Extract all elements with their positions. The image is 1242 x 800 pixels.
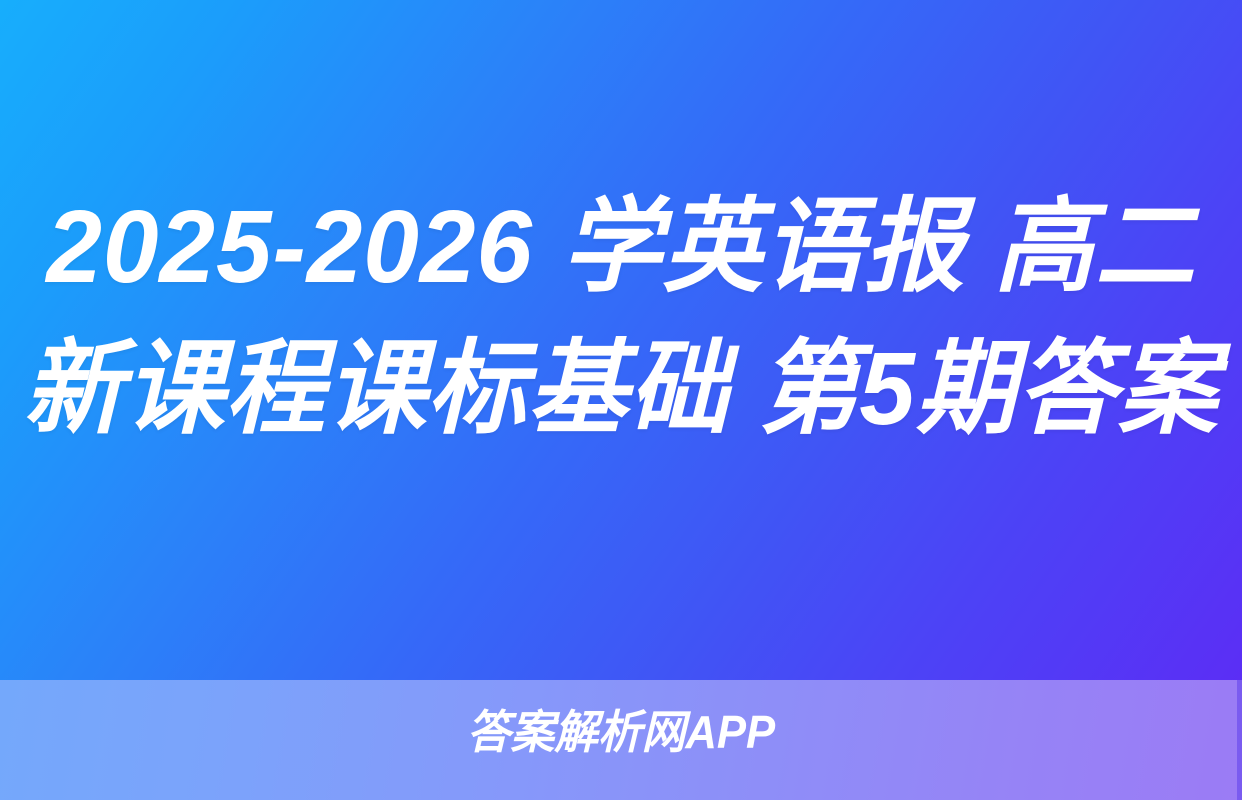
answer-poster-image: 2025-2026 学英语报 高二 新课程课标基础 第5期答案 答案解析网APP bbox=[0, 0, 1242, 800]
watermark-bar-right-edge bbox=[1237, 680, 1242, 800]
page-title: 2025-2026 学英语报 高二 新课程课标基础 第5期答案 bbox=[19, 176, 1224, 460]
watermark-label: 答案解析网APP bbox=[31, 704, 1211, 760]
hero-gradient-background: 2025-2026 学英语报 高二 新课程课标基础 第5期答案 bbox=[0, 0, 1242, 680]
